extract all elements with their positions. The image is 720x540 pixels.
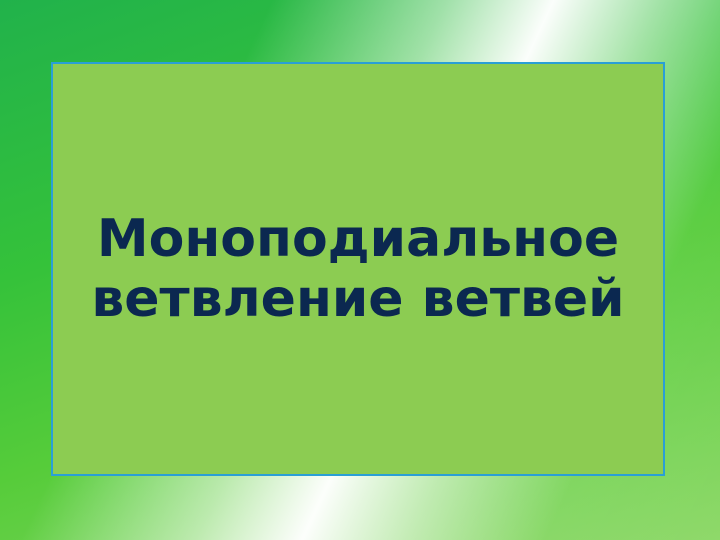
slide-canvas: Моноподиальное ветвление ветвей	[0, 0, 720, 540]
title-placeholder-box[interactable]: Моноподиальное ветвление ветвей	[51, 62, 665, 476]
page-title: Моноподиальное ветвление ветвей	[53, 209, 663, 330]
